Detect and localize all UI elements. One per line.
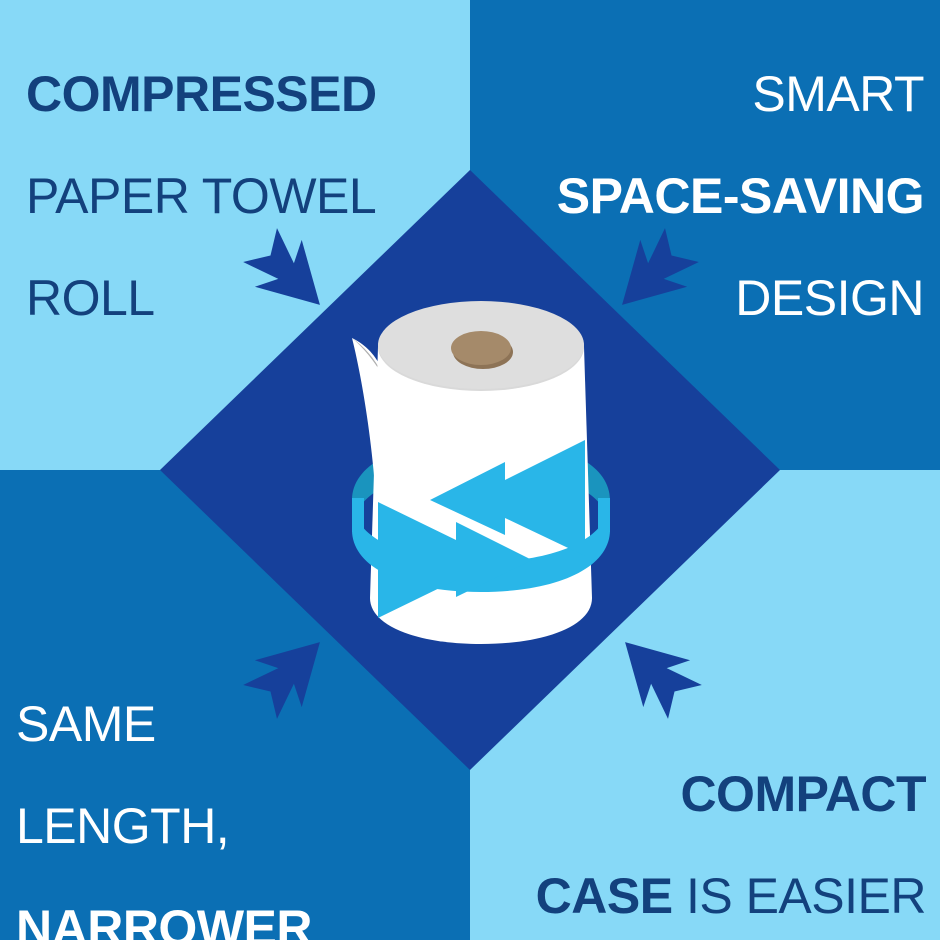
headline-bottom-left: SAME LENGTH, NARROWER ROLL (16, 648, 436, 940)
headline-top-left: COMPRESSED PAPER TOWEL ROLL (26, 18, 426, 375)
headline-bottom-right-line-2-regular: IS EASIER (673, 868, 926, 924)
infographic-canvas: COMPRESSED PAPER TOWEL ROLL SMART SPACE-… (0, 0, 940, 940)
headline-bottom-left-line-3: NARROWER (16, 903, 436, 940)
headline-top-right-line-2: SPACE-SAVING (504, 171, 924, 222)
headline-top-right-line-1: SMART (504, 69, 924, 120)
headline-bottom-right: COMPACT CASE IS EASIER TO STORE (496, 718, 926, 940)
headline-bottom-right-line-1: COMPACT (496, 769, 926, 820)
headline-top-right-line-3: DESIGN (504, 273, 924, 324)
headline-bottom-right-line-2-bold: CASE (536, 868, 673, 924)
headline-bottom-right-line-2: CASE IS EASIER (496, 871, 926, 922)
headline-bottom-left-line-1: SAME (16, 699, 436, 750)
headline-top-left-line-3: ROLL (26, 273, 426, 324)
headline-top-left-line-2: PAPER TOWEL (26, 171, 426, 222)
headline-bottom-left-line-2: LENGTH, (16, 801, 436, 852)
headline-top-left-line-1: COMPRESSED (26, 69, 426, 120)
headline-top-right: SMART SPACE-SAVING DESIGN (504, 18, 924, 375)
